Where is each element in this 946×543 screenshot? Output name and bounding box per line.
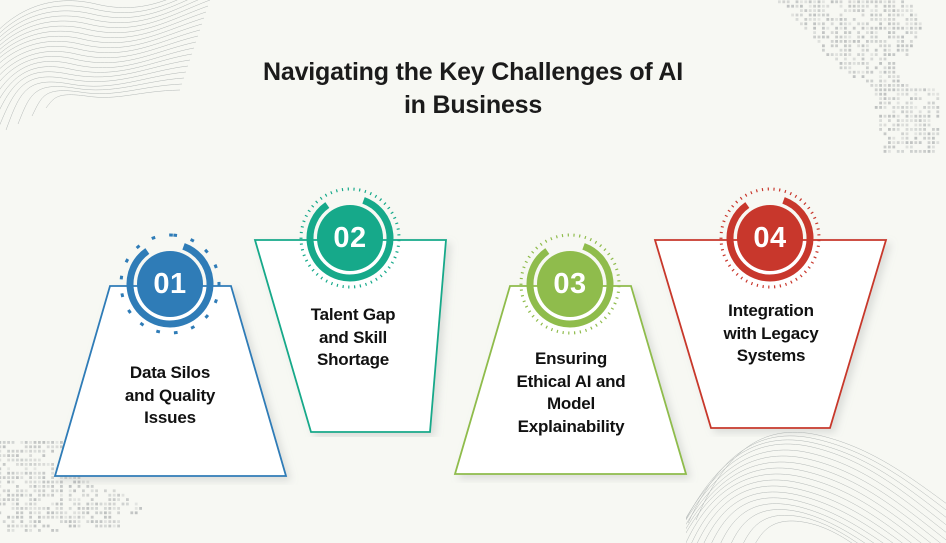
card-label-04: Integration with Legacy Systems bbox=[662, 300, 880, 368]
card-label-line: and Quality bbox=[125, 386, 215, 405]
page-title: Navigating the Key Challenges of AI in B… bbox=[0, 56, 946, 122]
card-label-line: Model bbox=[547, 394, 595, 413]
card-label-line: and Skill bbox=[319, 328, 387, 347]
card-label-line: Data Silos bbox=[130, 363, 210, 382]
card-label-line: Shortage bbox=[317, 350, 389, 369]
badge-number-03: 03 bbox=[518, 232, 622, 336]
badge-number-01: 01 bbox=[118, 232, 222, 336]
badge-01: 01 bbox=[118, 232, 222, 336]
badge-03: 03 bbox=[518, 232, 622, 336]
infographic-canvas: Navigating the Key Challenges of AI in B… bbox=[0, 0, 946, 543]
challenge-card-04[interactable]: 04 Integration with Legacy Systems bbox=[640, 182, 900, 437]
card-label-line: Talent Gap bbox=[311, 305, 396, 324]
page-title-line-1: Navigating the Key Challenges of AI bbox=[0, 56, 946, 89]
badge-04: 04 bbox=[718, 186, 822, 290]
card-label-line: Ensuring bbox=[535, 349, 607, 368]
card-label-line: Explainability bbox=[518, 417, 625, 436]
card-label-02: Talent Gap and Skill Shortage bbox=[258, 304, 448, 372]
card-label-line: with Legacy bbox=[723, 324, 818, 343]
card-label-line: Integration bbox=[728, 301, 814, 320]
card-label-line: Ethical AI and bbox=[517, 372, 626, 391]
card-label-line: Issues bbox=[144, 408, 196, 427]
badge-number-04: 04 bbox=[718, 186, 822, 290]
page-title-line-2: in Business bbox=[0, 89, 946, 122]
badge-number-02: 02 bbox=[298, 186, 402, 290]
badge-02: 02 bbox=[298, 186, 402, 290]
card-label-line: Systems bbox=[737, 346, 806, 365]
